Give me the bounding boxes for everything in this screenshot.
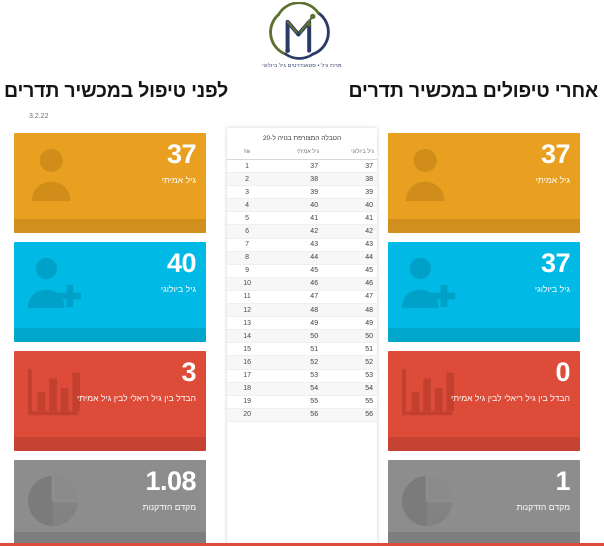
table-cell: 19 <box>227 395 267 408</box>
table-row: 45459 <box>227 264 377 277</box>
age-reference-table: גיל ביולוגי גיל אמיתי № 3737138382393934… <box>227 147 377 422</box>
table-cell: 44 <box>267 251 322 264</box>
card-footer-strip <box>388 328 580 342</box>
table-cell: 50 <box>322 330 377 343</box>
user-icon <box>24 145 86 203</box>
table-row: 39393 <box>227 186 377 199</box>
table-row: 38382 <box>227 173 377 186</box>
table-cell: 53 <box>322 369 377 382</box>
table-row: 545418 <box>227 382 377 395</box>
table-col-index: № <box>227 147 267 160</box>
card-aging-coefficient-after[interactable]: 1 מקדם הזדקנות <box>388 460 580 546</box>
card-age-difference-before[interactable]: 3 הבדל בין גיל ריאלי לבין גיל אמיתי <box>14 351 206 451</box>
table-cell: 52 <box>322 356 377 369</box>
table-cell: 41 <box>322 212 377 225</box>
table-row: 43437 <box>227 238 377 251</box>
card-label: מקדם הזדקנות <box>517 502 570 512</box>
table-cell: 51 <box>267 343 322 356</box>
before-panel: 37 גיל אמיתי 40 גיל ביולוגי 3 הבדל בין ג… <box>14 133 206 546</box>
table-cell: 49 <box>267 317 322 330</box>
table-row: 37371 <box>227 160 377 173</box>
table-cell: 43 <box>322 238 377 251</box>
card-footer-strip <box>14 328 206 342</box>
table-cell: 40 <box>267 199 322 212</box>
user-plus-icon <box>398 254 460 312</box>
date-stamp: 3.2.22 <box>29 113 48 120</box>
logo-area: מרכז גיל • סטאנדרטים גיל ביולוגי <box>0 0 604 78</box>
table-cell: 1 <box>227 160 267 173</box>
table-title: הטבלה המצורפת בנויה ל-20 <box>227 128 377 147</box>
table-cell: 38 <box>267 173 322 186</box>
user-icon <box>398 145 460 203</box>
card-value: 1.08 <box>145 468 196 495</box>
card-label: הבדל בין גיל ריאלי לבין גיל אמיתי <box>451 393 570 403</box>
bar-chart-icon <box>398 363 460 421</box>
card-value: 37 <box>167 141 196 168</box>
table-cell: 49 <box>322 317 377 330</box>
card-aging-coefficient-before[interactable]: 1.08 מקדם הזדקנות <box>14 460 206 546</box>
table-cell: 43 <box>267 238 322 251</box>
card-age-difference-after[interactable]: 0 הבדל בין גיל ריאלי לבין גיל אמיתי <box>388 351 580 451</box>
table-cell: 13 <box>227 317 267 330</box>
table-cell: 52 <box>267 356 322 369</box>
table-cell: 9 <box>227 264 267 277</box>
table-cell: 3 <box>227 186 267 199</box>
card-footer-strip <box>388 437 580 451</box>
table-row: 505014 <box>227 330 377 343</box>
card-biological-age-after[interactable]: 37 גיל ביולוגי <box>388 242 580 342</box>
table-row: 565620 <box>227 408 377 421</box>
after-panel: 37 גיל אמיתי 37 גיל ביולוגי 0 הבדל בין ג… <box>388 133 580 546</box>
card-footer-strip <box>14 219 206 233</box>
table-cell: 41 <box>267 212 322 225</box>
table-row: 525216 <box>227 356 377 369</box>
table-cell: 51 <box>322 343 377 356</box>
heading-before: לפני טיפול במכשיר תדרים <box>4 80 228 103</box>
card-real-age-after[interactable]: 37 גיל אמיתי <box>388 133 580 233</box>
table-row: 40404 <box>227 199 377 212</box>
card-value: 40 <box>167 250 196 277</box>
card-label: גיל ביולוגי <box>535 284 570 294</box>
table-col-biological-age: גיל ביולוגי <box>322 147 377 160</box>
table-cell: 48 <box>267 304 322 317</box>
table-row: 515115 <box>227 343 377 356</box>
table-cell: 46 <box>267 277 322 290</box>
table-cell: 45 <box>267 264 322 277</box>
card-label: מקדם הזדקנות <box>143 502 196 512</box>
card-value: 37 <box>541 250 570 277</box>
table-cell: 17 <box>227 369 267 382</box>
table-cell: 37 <box>322 160 377 173</box>
pie-chart-icon <box>398 472 460 530</box>
table-cell: 47 <box>267 290 322 303</box>
table-cell: 5 <box>227 212 267 225</box>
table-row: 494913 <box>227 317 377 330</box>
card-value: 37 <box>541 141 570 168</box>
table-row: 535317 <box>227 369 377 382</box>
card-label: גיל ביולוגי <box>161 284 196 294</box>
heading-after: אחרי טיפולים במכשיר תדרים <box>349 80 599 103</box>
table-cell: 46 <box>322 277 377 290</box>
table-cell: 53 <box>267 369 322 382</box>
table-row: 474711 <box>227 290 377 303</box>
table-row: 484812 <box>227 304 377 317</box>
table-body: 3737138382393934040441415424264343744448… <box>227 160 377 422</box>
table-cell: 8 <box>227 251 267 264</box>
card-biological-age-before[interactable]: 40 גיל ביולוגי <box>14 242 206 342</box>
table-cell: 37 <box>267 160 322 173</box>
table-cell: 47 <box>322 290 377 303</box>
table-cell: 42 <box>267 225 322 238</box>
table-cell: 39 <box>267 186 322 199</box>
table-cell: 55 <box>322 395 377 408</box>
table-cell: 39 <box>322 186 377 199</box>
table-row: 41415 <box>227 212 377 225</box>
brand-logo-icon <box>248 2 356 62</box>
table-cell: 20 <box>227 408 267 421</box>
table-cell: 38 <box>322 173 377 186</box>
table-cell: 15 <box>227 343 267 356</box>
table-cell: 42 <box>322 225 377 238</box>
table-cell: 11 <box>227 290 267 303</box>
card-real-age-before[interactable]: 37 גיל אמיתי <box>14 133 206 233</box>
table-cell: 6 <box>227 225 267 238</box>
table-cell: 2 <box>227 173 267 186</box>
user-plus-icon <box>24 254 86 312</box>
card-label: הבדל בין גיל ריאלי לבין גיל אמיתי <box>77 393 196 403</box>
table-header-row: גיל ביולוגי גיל אמיתי № <box>227 147 377 160</box>
pie-chart-icon <box>24 472 86 530</box>
table-row: 464610 <box>227 277 377 290</box>
age-reference-table-panel: הטבלה המצורפת בנויה ל-20 גיל ביולוגי גיל… <box>227 128 377 546</box>
card-footer-strip <box>14 437 206 451</box>
table-row: 555519 <box>227 395 377 408</box>
table-row: 44448 <box>227 251 377 264</box>
table-col-real-age: גיל אמיתי <box>267 147 322 160</box>
table-cell: 56 <box>322 408 377 421</box>
table-cell: 7 <box>227 238 267 251</box>
table-row: 42426 <box>227 225 377 238</box>
table-cell: 56 <box>267 408 322 421</box>
table-cell: 12 <box>227 304 267 317</box>
card-value: 1 <box>555 468 570 495</box>
table-cell: 55 <box>267 395 322 408</box>
table-cell: 16 <box>227 356 267 369</box>
table-cell: 45 <box>322 264 377 277</box>
card-label: גיל אמיתי <box>162 175 196 185</box>
card-value: 3 <box>181 359 196 386</box>
table-cell: 50 <box>267 330 322 343</box>
table-cell: 48 <box>322 304 377 317</box>
table-cell: 44 <box>322 251 377 264</box>
bar-chart-icon <box>24 363 86 421</box>
table-cell: 14 <box>227 330 267 343</box>
table-cell: 18 <box>227 382 267 395</box>
card-label: גיל אמיתי <box>536 175 570 185</box>
card-footer-strip <box>388 219 580 233</box>
logo-caption: מרכז גיל • סטאנדרטים גיל ביולוגי <box>202 63 402 69</box>
table-cell: 40 <box>322 199 377 212</box>
table-cell: 54 <box>322 382 377 395</box>
table-cell: 4 <box>227 199 267 212</box>
table-cell: 54 <box>267 382 322 395</box>
card-value: 0 <box>555 359 570 386</box>
table-cell: 10 <box>227 277 267 290</box>
